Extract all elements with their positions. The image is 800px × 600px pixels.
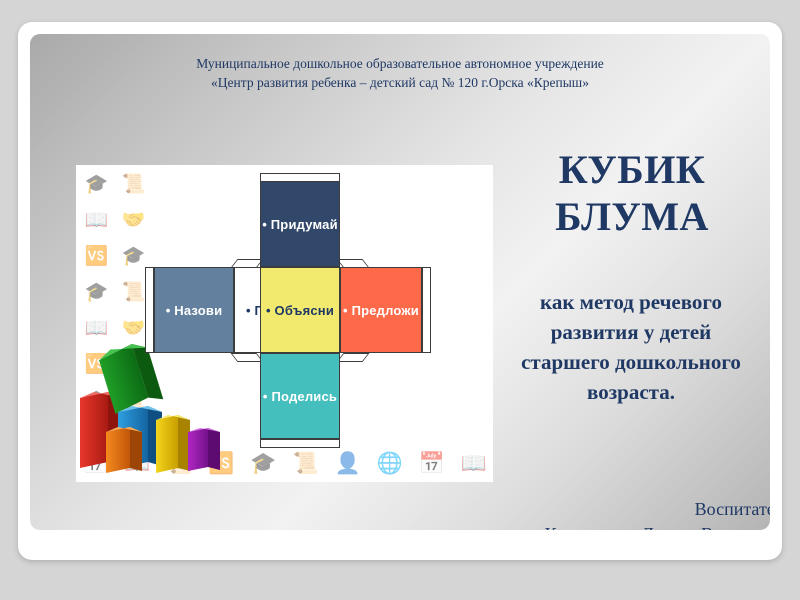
subtitle-line-4: возраста. (470, 377, 770, 407)
net-tab-bottom-right (336, 353, 369, 362)
illustration-image: 🎓 📜 📖 🤝 🆚 🎓 🎓 📜 📖 🤝 🆚 🎓 🎓 📜 📖 🤝 📅 (76, 165, 493, 482)
cube-face-pridumay: • Придумай (260, 181, 340, 267)
handshake-icon: 🤝 (115, 203, 152, 239)
net-tab-left (145, 267, 154, 353)
title-line-1: КУБИК (482, 146, 770, 193)
books-icon: 📖 (78, 203, 115, 239)
net-tab-bottom-left (230, 353, 263, 362)
subtitle-line-3: старшего дошкольного (470, 347, 770, 377)
net-tab-bottom (260, 439, 340, 448)
slide-canvas: Муниципальное дошкольное образовательное… (30, 34, 770, 530)
author-name: Коклюшина Лариса Викторовна (430, 522, 770, 530)
net-tab-right (422, 267, 431, 353)
cube-face-podelis: • Поделись (260, 353, 340, 439)
slide-frame: Муниципальное дошкольное образовательное… (18, 22, 782, 560)
subtitle-line-1: как метод речевого (470, 287, 770, 317)
author-role: Воспитатель (430, 497, 770, 522)
graduation-cap-icon: 🎓 (78, 167, 115, 203)
page-subtitle: как метод речевого развития у детей стар… (470, 287, 770, 407)
cube-net-diagram: • Назови • Почему • Предложи • Объясни •… (154, 175, 484, 465)
cube-face-predlozhi: • Предложи (340, 267, 422, 353)
graduation-cap-icon: 🎓 (78, 275, 115, 311)
organization-line-1: Муниципальное дошкольное образовательное… (30, 54, 770, 73)
organization-line-2: «Центр развития ребенка – детский сад № … (30, 73, 770, 92)
diploma-icon: 📜 (115, 167, 152, 203)
author-block: Воспитатель Коклюшина Лариса Викторовна (430, 497, 770, 530)
title-line-2: БЛУМА (482, 193, 770, 240)
cube-face-obyasni: • Объясни (260, 267, 340, 353)
organization-header: Муниципальное дошкольное образовательное… (30, 54, 770, 92)
abc-board-icon: 🆚 (78, 239, 115, 275)
cube-face-nazovi: • Назови (154, 267, 234, 353)
box-orange (106, 427, 142, 473)
page-title: КУБИК БЛУМА (482, 146, 770, 240)
subtitle-line-2: развития у детей (470, 317, 770, 347)
